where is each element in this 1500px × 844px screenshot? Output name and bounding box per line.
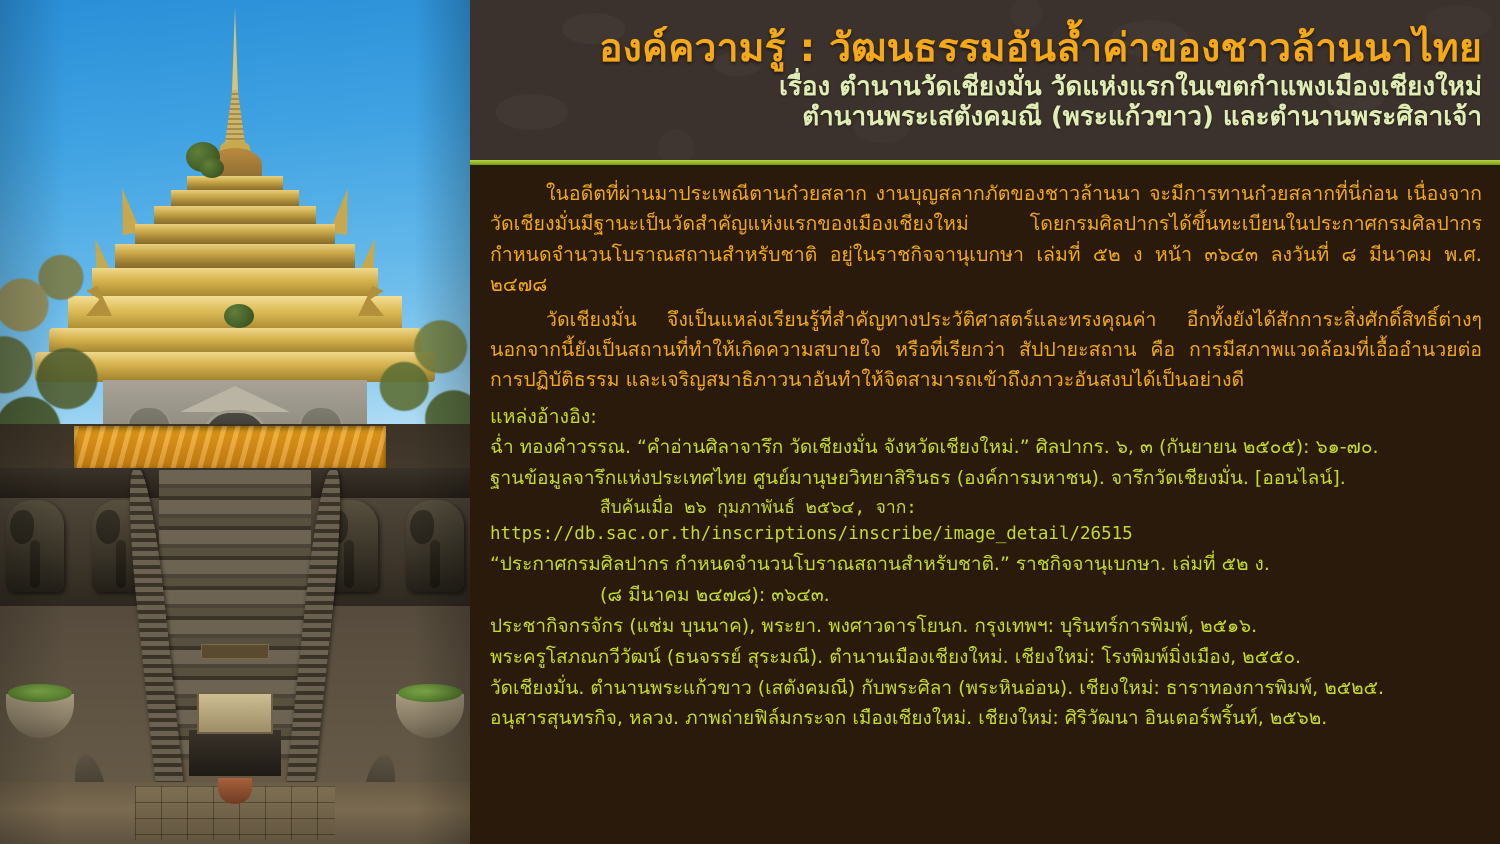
poster-header: องค์ความรู้ : วัฒนธรรมอันล้ำค่าของชาวล้า…: [470, 0, 1500, 160]
reference-item: อนุสารสุนทรกิจ, หลวง. ภาพถ่ายฟิล์มกระจก …: [490, 704, 1482, 733]
reference-item: ฐานข้อมูลจารึกแห่งประเทศไทย ศูนย์มานุษยว…: [490, 464, 1482, 493]
altar-base: [189, 730, 281, 776]
elephant-sculpture: [406, 500, 464, 592]
temple-photograph: [0, 0, 470, 844]
paragraph-1: ในอดีตที่ผ่านมาประเพณีตานก๋วยสลาก งานบุญ…: [490, 179, 1482, 301]
paragraph-2: วัดเชียงมั่น จึงเป็นแหล่งเรียนรู้ที่สำคั…: [490, 305, 1482, 396]
reference-item: ฉ่ำ ทองคำวรรณ. “คำอ่านศิลาจารึก วัดเชียง…: [490, 433, 1482, 462]
page-subtitle-line-2: ตำนานพระเสตังคมณี (พระแก้วขาว) และตำนานพ…: [484, 102, 1482, 132]
reference-item: “ประกาศกรมศิลปากร กำหนดจำนวนโบราณสถานสำห…: [490, 550, 1482, 579]
reference-item-url[interactable]: สืบค้นเมื่อ ๒๖ กุมภาพันธ์ ๒๕๖๔, จาก: htt…: [490, 495, 1482, 548]
stair-plaque: [201, 644, 269, 659]
pediment: [180, 386, 290, 412]
references-heading: แหล่งอ้างอิง:: [490, 402, 1482, 431]
page-title: องค์ความรู้ : วัฒนธรรมอันล้ำค่าของชาวล้า…: [484, 28, 1482, 70]
article-body: ในอดีตที่ผ่านมาประเพณีตานก๋วยสลาก งานบุญ…: [470, 165, 1500, 844]
reference-item: พระครูโสภณกวีวัฒน์ (ธนจรรย์ สุระมณี). ตำ…: [490, 643, 1482, 672]
saffron-cloth: [74, 426, 386, 468]
page-subtitle-line-1: เรื่อง ตำนานวัดเชียงมั่น วัดแห่งแรกในเขต…: [484, 72, 1482, 102]
content-panel: องค์ความรู้ : วัฒนธรรมอันล้ำค่าของชาวล้า…: [470, 0, 1500, 844]
foliage-tuft: [224, 304, 254, 328]
elephant-sculpture: [6, 500, 64, 592]
inscription-tablet: [197, 692, 273, 734]
reference-item: ประชากิจกรจักร (แช่ม บุนนาค), พระยา. พงศ…: [490, 612, 1482, 641]
header-text-block: องค์ความรู้ : วัฒนธรรมอันล้ำค่าของชาวล้า…: [484, 28, 1482, 132]
reference-item: (๘ มีนาคม ๒๔๗๘): ๓๖๔๓.: [490, 581, 1482, 610]
reference-item: วัดเชียงมั่น. ตำนานพระแก้วขาว (เสตังคมณี…: [490, 674, 1482, 703]
foliage-tuft: [200, 158, 224, 178]
poster-root: องค์ความรู้ : วัฒนธรรมอันล้ำค่าของชาวล้า…: [0, 0, 1500, 844]
